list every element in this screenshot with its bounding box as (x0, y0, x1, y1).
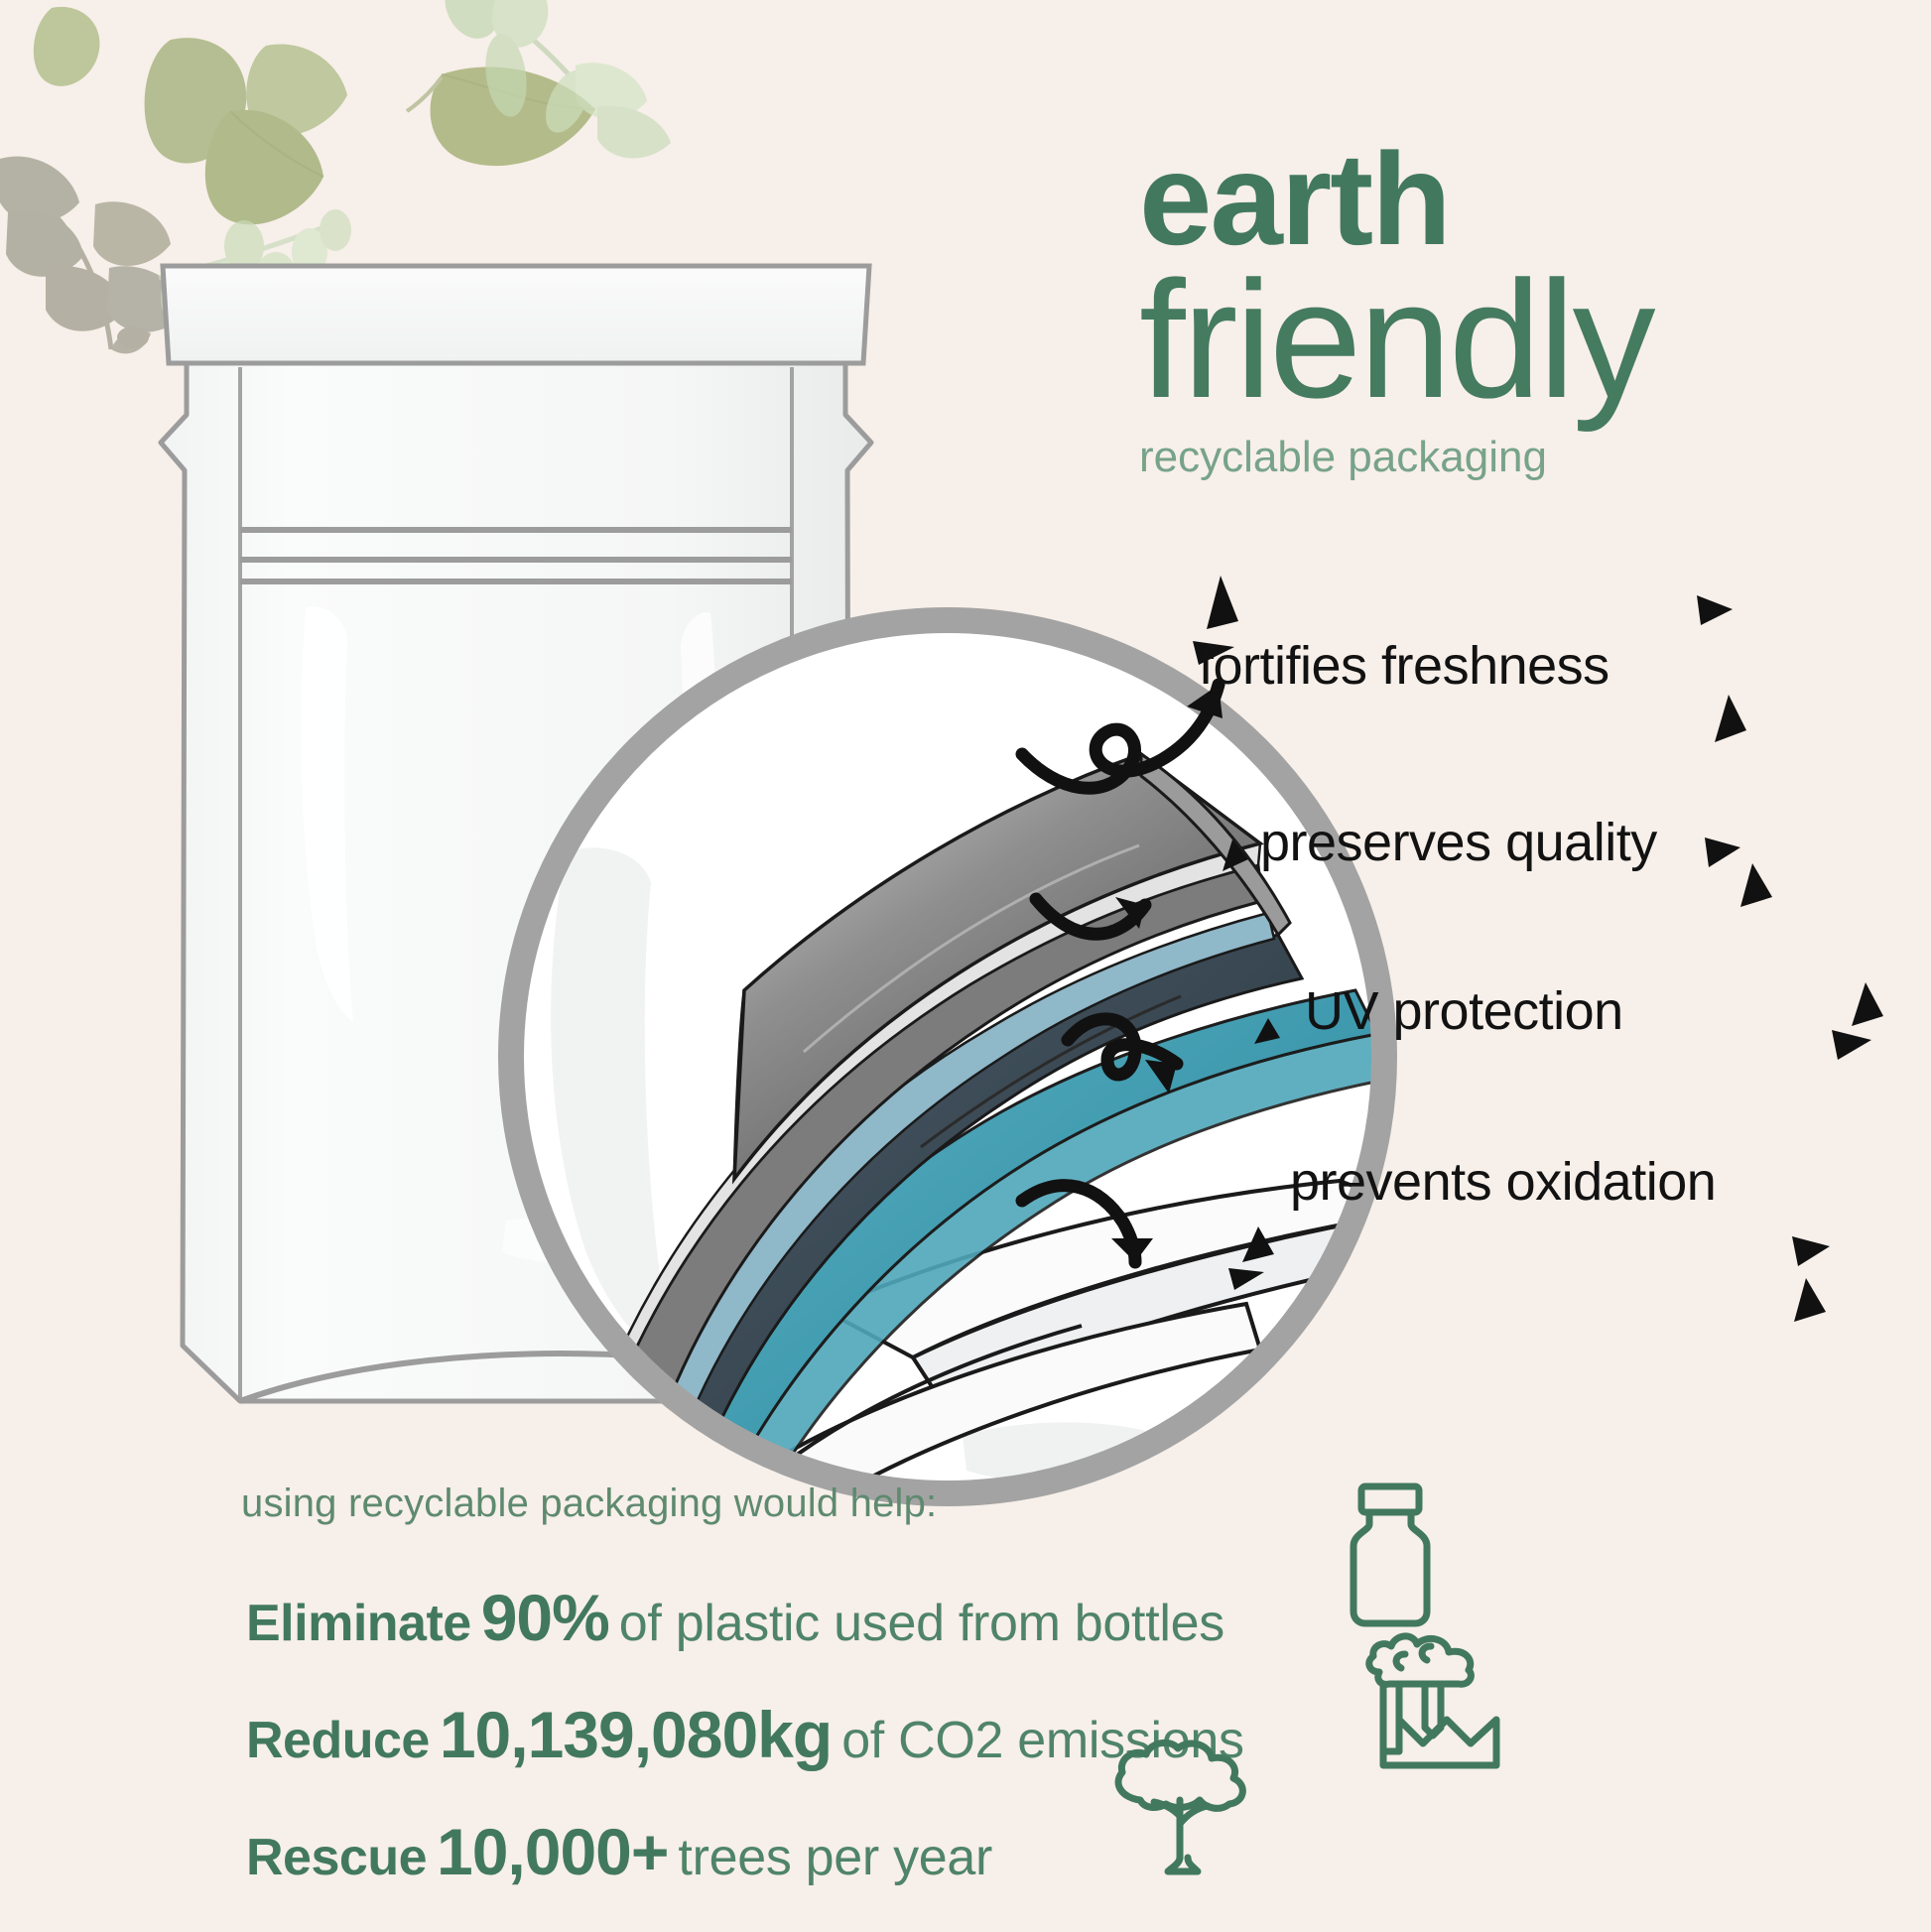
botanical-decoration-top (278, 0, 695, 218)
stat-verb: Eliminate (246, 1595, 471, 1652)
stat-row-rescue: Rescue10,000+trees per year (246, 1814, 992, 1889)
bottle-icon (1328, 1481, 1457, 1629)
feature-label-fortifies-freshness: fortifies freshness (1199, 635, 1609, 697)
headline-block: earth friendly recyclable packaging (1139, 139, 1893, 482)
infographic-canvas: earth friendly recyclable packaging fort… (0, 0, 1931, 1932)
headline-line-1: earth (1139, 139, 1893, 259)
stat-tail: trees per year (678, 1829, 992, 1886)
feature-label-prevents-oxidation: prevents oxidation (1290, 1151, 1716, 1213)
tree-icon (1096, 1737, 1265, 1885)
feature-label-uv-protection: UV protection (1305, 980, 1623, 1042)
stat-value: 10,000+ (437, 1815, 668, 1888)
headline-subtitle: recyclable packaging (1139, 433, 1893, 482)
headline-line-2: friendly (1139, 263, 1893, 417)
stat-value: 10,139,080kg (440, 1698, 832, 1771)
stat-verb: Rescue (246, 1829, 427, 1886)
stats-intro-text: using recyclable packaging would help: (241, 1481, 937, 1526)
sparkle-decorations-right (1687, 595, 1925, 1389)
stat-value: 90% (481, 1581, 609, 1654)
factory-icon (1355, 1624, 1520, 1773)
stat-verb: Reduce (246, 1712, 430, 1769)
stat-tail: of plastic used from bottles (619, 1595, 1224, 1652)
stat-row-reduce: Reduce10,139,080kgof CO2 emissions (246, 1697, 1244, 1772)
feature-label-preserves-quality: preserves quality (1260, 812, 1657, 873)
stat-row-eliminate: Eliminate90%of plastic used from bottles (246, 1580, 1224, 1655)
